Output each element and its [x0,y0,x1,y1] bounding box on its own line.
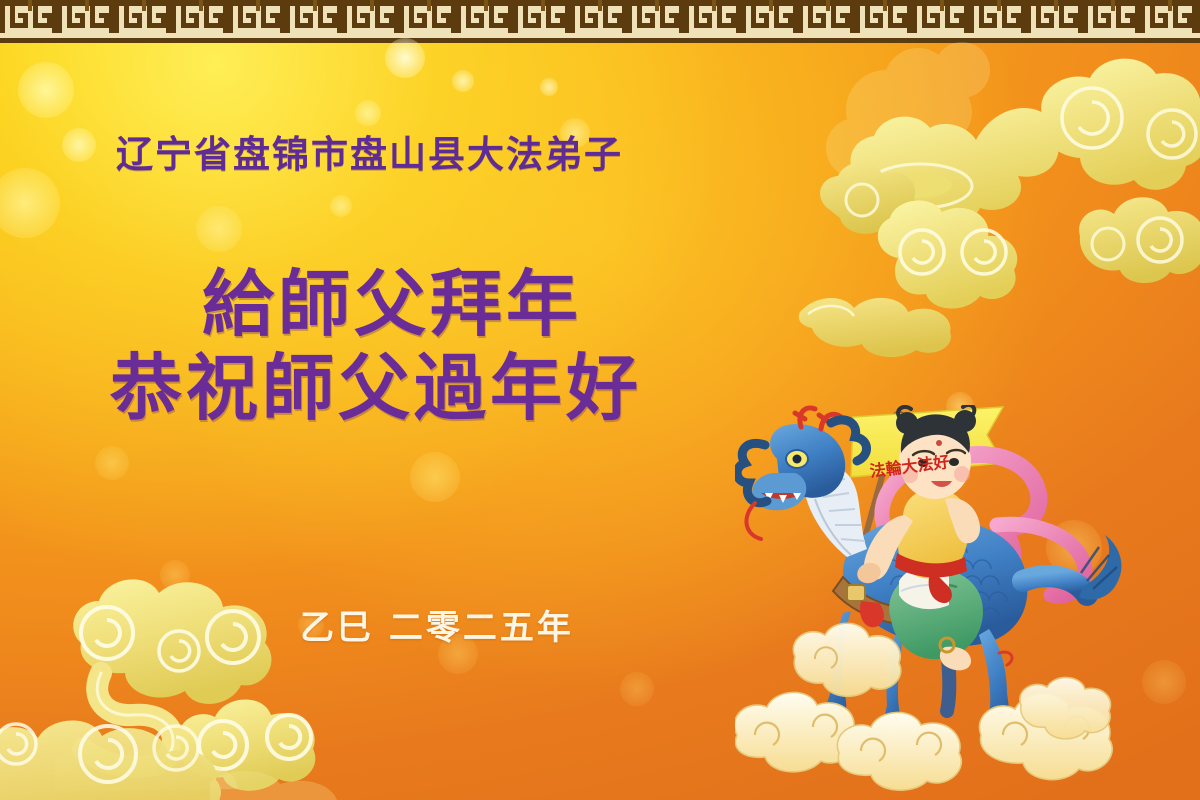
bokeh-speck [355,100,381,126]
bokeh-speck [95,446,129,480]
auspicious-cloud-bottom-strip [0,690,440,800]
bokeh-speck [452,70,474,92]
date-line: 乙巳 二零二五年 [300,611,574,645]
bokeh-speck [385,38,425,78]
greeting-line-1: 給師父拜年 [0,262,800,346]
bokeh-speck [18,62,74,118]
auspicious-cloud-bottom-left [55,565,385,795]
greeting-line-2: 恭祝師父過年好 [0,346,800,430]
bokeh-speck [0,168,60,238]
meander-key-pattern-border [0,0,1200,43]
greeting-block: 給師父拜年 恭祝師父過年好 [0,262,800,430]
bokeh-speck [62,128,96,162]
bokeh-speck [330,195,352,217]
auspicious-cloud-top-right [790,40,1200,360]
new-year-greeting-card: 辽宁省盘锦市盘山县大法弟子 給師父拜年 恭祝師父過年好 乙巳 二零二五年 [0,0,1200,800]
bokeh-speck [1142,660,1186,704]
bokeh-speck [196,206,242,252]
sender-line: 辽宁省盘锦市盘山县大法弟子 [116,136,623,173]
bokeh-speck [620,672,654,706]
bokeh-speck [540,78,558,96]
child-riding-dragon-illustration [735,405,1135,795]
bokeh-speck [410,452,460,502]
bokeh-speck [160,560,190,590]
